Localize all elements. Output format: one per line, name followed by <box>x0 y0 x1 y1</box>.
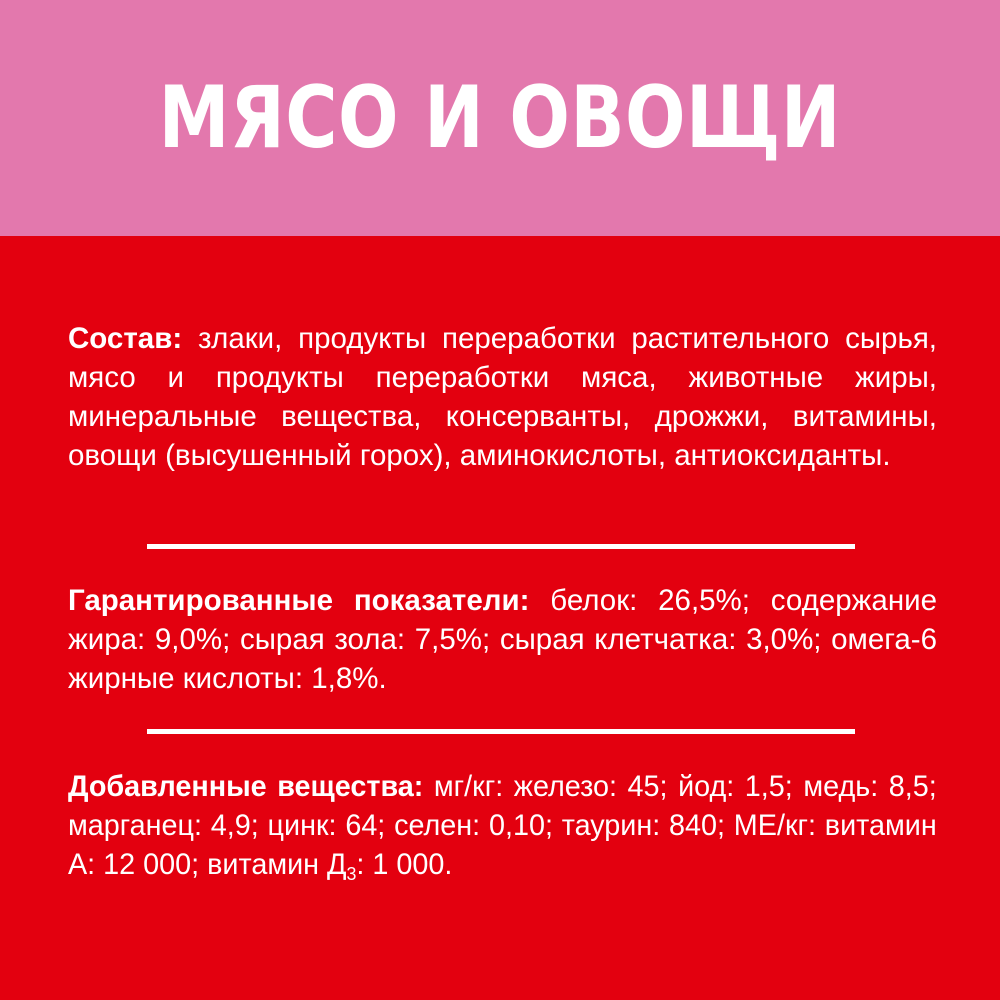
composition-text: злаки, продукты переработки растительног… <box>68 322 937 472</box>
section-additives: Добавленные вещества: мг/кг: железо: 45;… <box>68 767 937 884</box>
composition-label: Состав: <box>68 322 182 355</box>
product-label-card: МЯСО И ОВОЩИ Состав: злаки, продукты пер… <box>0 0 1000 1000</box>
section-guaranteed-analysis: Гарантированные показатели: белок: 26,5%… <box>68 581 937 698</box>
composition-paragraph: Состав: злаки, продукты переработки раст… <box>68 319 937 475</box>
page-title: МЯСО И ОВОЩИ <box>159 75 841 161</box>
additives-text-after-subscript: : 1 000. <box>356 848 452 881</box>
vitamin-d3-subscript: 3 <box>347 863 357 884</box>
guaranteed-analysis-paragraph: Гарантированные показатели: белок: 26,5%… <box>68 581 937 698</box>
divider-two <box>147 729 855 734</box>
divider-one <box>147 544 855 549</box>
section-composition: Состав: злаки, продукты переработки раст… <box>68 319 937 475</box>
additives-label: Добавленные вещества: <box>68 770 423 803</box>
guaranteed-analysis-label: Гарантированные показатели: <box>68 584 529 617</box>
additives-paragraph: Добавленные вещества: мг/кг: железо: 45;… <box>68 767 937 884</box>
header-band: МЯСО И ОВОЩИ <box>0 0 1000 236</box>
label-body: Состав: злаки, продукты переработки раст… <box>0 236 1000 1000</box>
